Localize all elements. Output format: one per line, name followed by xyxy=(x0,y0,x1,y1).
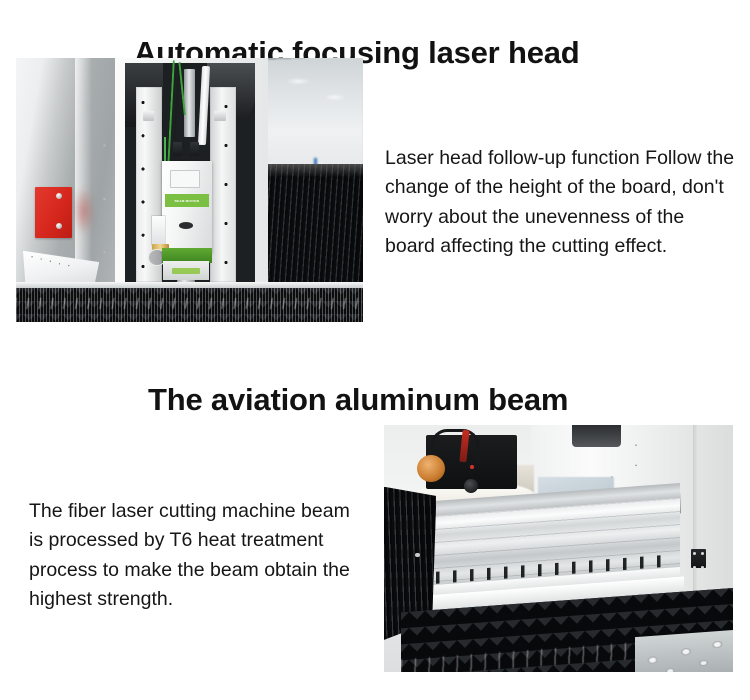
red-access-panel xyxy=(35,187,71,237)
overhead-dark-module xyxy=(572,425,621,447)
beam-motion-label: BEAM MOTION xyxy=(165,194,208,207)
bellows-top-highlight xyxy=(257,164,363,177)
door-hinge xyxy=(691,549,706,569)
slat-bed-highlights xyxy=(16,298,363,309)
tray-support-feet xyxy=(635,635,733,672)
laser-head-photo: BEAM MOTION xyxy=(16,58,363,322)
height-sensor-box xyxy=(152,216,164,245)
head-sensor-window xyxy=(179,222,193,229)
page-title-aluminum-beam: The aviation aluminum beam xyxy=(148,382,568,418)
cable-connector-left xyxy=(173,142,182,155)
head-nameplate xyxy=(170,170,200,188)
wall-panel-seam xyxy=(693,425,697,598)
cable-clamp-right xyxy=(214,111,226,122)
bellows-cover xyxy=(257,164,363,296)
copper-coil xyxy=(417,455,445,482)
cable-connector-right xyxy=(190,142,199,155)
cable-clamp-left xyxy=(143,111,155,122)
laser-head-description: Laser head follow-up function Follow the… xyxy=(385,144,737,262)
aluminum-beam-photo xyxy=(384,425,733,672)
promo-page: Automatic focusing laser head xyxy=(0,0,750,700)
factory-ceiling-lights xyxy=(255,58,363,164)
head-module-label xyxy=(172,268,200,275)
red-panel-reflection xyxy=(73,187,94,235)
aluminum-beam-description: The fiber laser cutting machine beam is … xyxy=(29,497,359,615)
